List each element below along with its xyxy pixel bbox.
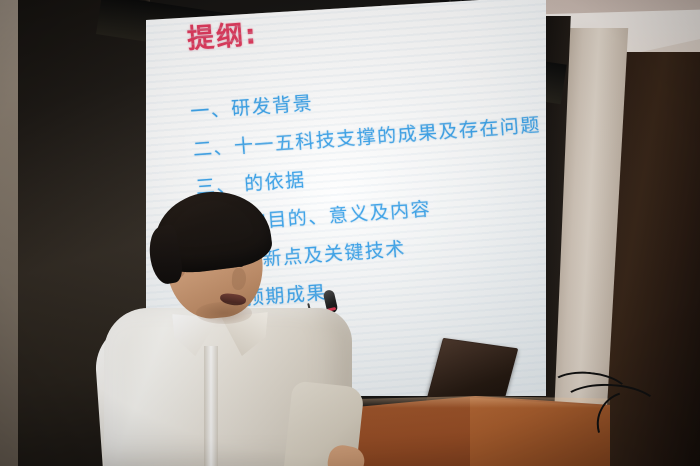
chin-shadow xyxy=(196,302,252,324)
shirt-placket xyxy=(204,346,218,466)
speaker-figure xyxy=(92,196,352,466)
slide-title: 提纲: xyxy=(186,12,259,56)
presentation-photo-scene: 提纲: 一、研发背景 二、十一五科技支撑的成果及存在问题 三、 的依据 四、 的… xyxy=(0,0,700,466)
